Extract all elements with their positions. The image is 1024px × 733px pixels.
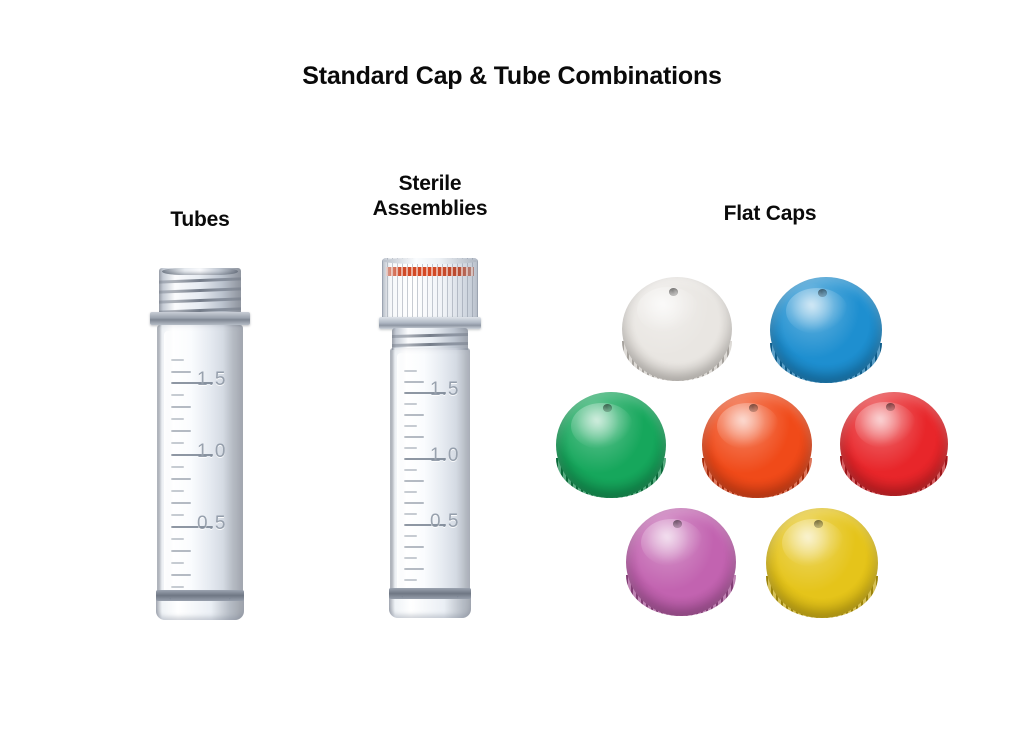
product-figure: Standard Cap & Tube Combinations Tubes S… <box>0 0 1024 733</box>
tube-thread-1 <box>159 277 241 283</box>
group-label-sterile-assemblies: Sterile Assemblies <box>335 172 525 222</box>
sterile-tube-body: 1.5 1.0 0.5 <box>390 348 470 598</box>
flat-cap-natural-nub <box>669 288 678 296</box>
tube-neck-rim <box>162 268 238 275</box>
sterile-graduation-label-0-5: 0.5 <box>430 511 459 533</box>
screw-cap-tube-open: 1.5 1.0 0.5 <box>157 268 243 620</box>
flat-cap-red <box>840 392 948 496</box>
flat-cap-natural <box>622 277 732 381</box>
sterile-assembly-tube: 1.5 1.0 0.5 <box>390 258 470 620</box>
tube-graduation-scale: 1.5 1.0 0.5 <box>157 325 243 601</box>
tube-threaded-neck <box>159 268 241 316</box>
tube-body: 1.5 1.0 0.5 <box>157 325 243 601</box>
flat-cap-violet <box>626 508 736 616</box>
flat-cap-yellow <box>766 508 878 618</box>
graduation-label-0-5: 0.5 <box>197 513 226 535</box>
tube-thread-2 <box>159 287 241 293</box>
sterile-tube-neck <box>392 328 468 350</box>
sterile-graduation-label-1-0: 1.0 <box>430 445 459 467</box>
sterile-cap-top-rim <box>383 258 477 264</box>
group-label-sterile-line1: Sterile <box>335 172 525 197</box>
group-label-flat-caps: Flat Caps <box>665 202 875 227</box>
sterile-graduation-label-1-5: 1.5 <box>430 379 459 401</box>
flat-cap-blue <box>770 277 882 383</box>
tube-flange-collar <box>150 312 250 325</box>
flat-cap-green-nub <box>603 404 612 412</box>
sterile-cap-body <box>382 258 478 322</box>
tube-thread-3 <box>159 297 241 303</box>
sterile-cap <box>382 258 478 322</box>
group-label-sterile-line2: Assemblies <box>335 197 525 222</box>
flat-cap-green <box>556 392 666 498</box>
flat-cap-red-nub <box>886 403 895 411</box>
flat-cap-violet-nub <box>673 520 682 528</box>
flat-cap-blue-nub <box>818 289 827 297</box>
sterile-graduation-scale: 1.5 1.0 0.5 <box>390 348 470 598</box>
page-title: Standard Cap & Tube Combinations <box>0 62 1024 91</box>
flat-cap-orange <box>702 392 812 498</box>
graduation-label-1-0: 1.0 <box>197 441 226 463</box>
sterile-cap-red-band <box>386 267 474 276</box>
flat-cap-orange-nub <box>749 404 758 412</box>
group-label-tubes: Tubes <box>110 208 290 233</box>
flat-cap-yellow-nub <box>814 520 823 528</box>
graduation-label-1-5: 1.5 <box>197 369 226 391</box>
